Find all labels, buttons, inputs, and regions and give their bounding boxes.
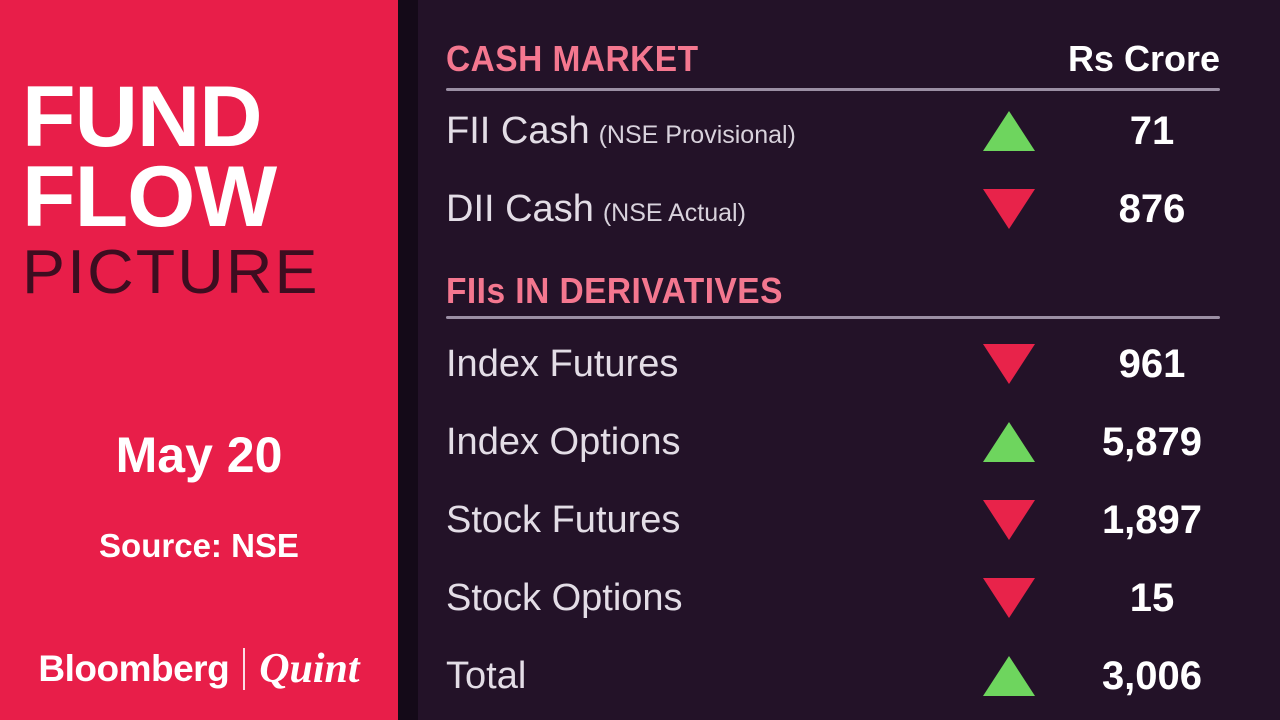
brand-wordmark: FUND FLOW PICTURE [22, 78, 382, 304]
row-label-dii-cash: DII Cash (NSE Actual) [446, 188, 746, 231]
table-row: FII Cash (NSE Provisional) 71 [446, 104, 1220, 158]
section-header-cash-market: CASH MARKET Rs Crore [446, 38, 1220, 80]
row-label-text: Stock Futures [446, 499, 680, 542]
row-value-stock-options: 15 [1056, 576, 1248, 621]
table-row: Stock Futures 1,897 [446, 493, 1220, 547]
direction-cell [974, 422, 1044, 462]
section-title-derivatives: FIIs IN DERIVATIVES [446, 270, 783, 312]
arrow-down-icon [983, 344, 1035, 384]
wordmark-line-flow: FLOW [22, 158, 389, 238]
row-value-total: 3,006 [1056, 654, 1248, 699]
row-label-fii-cash: FII Cash (NSE Provisional) [446, 110, 796, 153]
publisher-logo: Bloomberg Quint [0, 645, 398, 693]
arrow-down-icon [983, 189, 1035, 229]
wordmark-line-fund: FUND [22, 78, 389, 158]
row-label-total: Total [446, 655, 526, 698]
unit-label: Rs Crore [1068, 38, 1220, 80]
data-panel: CASH MARKET Rs Crore FII Cash (NSE Provi… [418, 0, 1280, 720]
row-label-index-futures: Index Futures [446, 343, 678, 386]
panel-gutter [398, 0, 418, 720]
wordmark-line-picture: PICTURE [22, 242, 396, 304]
arrow-up-icon [983, 111, 1035, 151]
arrow-down-icon [983, 578, 1035, 618]
table-row: Total 3,006 [446, 649, 1220, 703]
section-rule-derivatives [446, 316, 1220, 319]
row-label-stock-options: Stock Options [446, 577, 683, 620]
row-value-stock-futures: 1,897 [1056, 498, 1248, 543]
row-label-text: Total [446, 655, 526, 698]
row-value-fii-cash: 71 [1056, 109, 1248, 154]
row-label-index-options: Index Options [446, 421, 680, 464]
table-row: DII Cash (NSE Actual) 876 [446, 182, 1220, 236]
direction-cell [974, 189, 1044, 229]
table-row: Index Options 5,879 [446, 415, 1220, 469]
arrow-down-icon [983, 500, 1035, 540]
row-value-index-futures: 961 [1056, 342, 1248, 387]
direction-cell [974, 656, 1044, 696]
date-label: May 20 [0, 426, 398, 484]
row-label-sub: (NSE Provisional) [599, 121, 796, 150]
table-row: Index Futures 961 [446, 337, 1220, 391]
direction-cell [974, 578, 1044, 618]
logo-quint-text: Quint [259, 645, 359, 693]
logo-bloomberg-text: Bloomberg [38, 648, 229, 690]
direction-cell [974, 111, 1044, 151]
infographic-canvas: FUND FLOW PICTURE May 20 Source: NSE Blo… [0, 0, 1280, 720]
row-label-stock-futures: Stock Futures [446, 499, 680, 542]
row-label-text: FII Cash [446, 110, 590, 153]
row-value-dii-cash: 876 [1056, 187, 1248, 232]
section-title-cash-market: CASH MARKET [446, 38, 698, 80]
direction-cell [974, 500, 1044, 540]
row-label-sub: (NSE Actual) [603, 199, 746, 228]
logo-divider [243, 648, 245, 690]
row-label-text: Stock Options [446, 577, 683, 620]
row-value-index-options: 5,879 [1056, 420, 1248, 465]
section-rule-cash-market [446, 88, 1220, 91]
section-header-derivatives: FIIs IN DERIVATIVES [446, 270, 1220, 312]
row-label-text: Index Options [446, 421, 680, 464]
source-label: Source: NSE [0, 527, 398, 565]
direction-cell [974, 344, 1044, 384]
row-label-text: Index Futures [446, 343, 678, 386]
brand-panel: FUND FLOW PICTURE May 20 Source: NSE Blo… [0, 0, 398, 720]
table-row: Stock Options 15 [446, 571, 1220, 625]
row-label-text: DII Cash [446, 188, 594, 231]
arrow-up-icon [983, 656, 1035, 696]
arrow-up-icon [983, 422, 1035, 462]
